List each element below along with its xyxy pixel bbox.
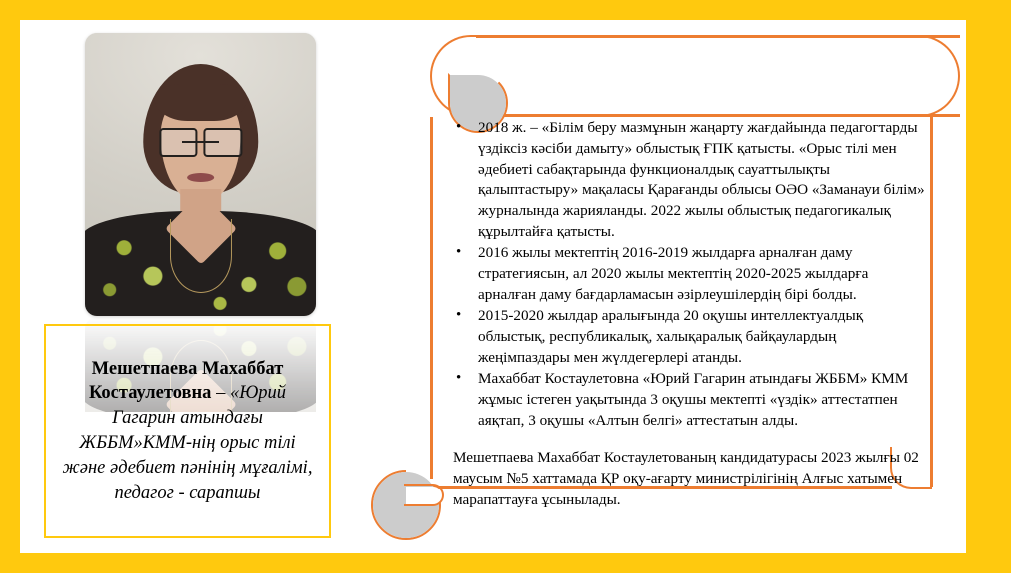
list-item: Махаббат Костаулетовна «Юрий Гагарин аты…: [447, 369, 927, 431]
photo-fringe: [154, 84, 246, 121]
photo-glasses-bridge: [182, 141, 219, 144]
list-item: 2018 ж. – «Білім беру мазмұнын жаңарту ж…: [447, 118, 927, 243]
list-item: 2016 жылы мектептің 2016-2019 жылдарға а…: [447, 243, 927, 305]
decor-left-stem: [430, 117, 433, 479]
content-area: 2018 ж. – «Білім беру мазмұнын жаңарту ж…: [447, 118, 927, 510]
decor-pill-bottom-line: [476, 114, 960, 117]
decor-c-disc-inner-hook: [404, 484, 444, 506]
frame-border-bottom: [0, 553, 1011, 573]
photo-necklace: [169, 219, 231, 294]
slide-canvas: Мешетпаева Махаббат Костаулетовна – «Юри…: [0, 0, 1011, 573]
caption-dash: –: [211, 383, 230, 403]
photo-lips: [187, 173, 215, 182]
decor-right-stem: [930, 117, 933, 487]
frame-border-left: [0, 0, 20, 573]
frame-border-right: [966, 0, 1011, 573]
list-item: 2015-2020 жылдар аралығында 20 оқушы инт…: [447, 306, 927, 368]
caption-text: Мешетпаева Махаббат Костаулетовна – «Юри…: [56, 357, 319, 506]
achievements-list: 2018 ж. – «Білім беру мазмұнын жаңарту ж…: [447, 118, 927, 432]
closing-paragraph: Мешетпаева Махаббат Костаулетованың канд…: [447, 448, 927, 510]
decor-pill-top-line: [476, 35, 960, 38]
portrait-photo: [85, 33, 316, 316]
caption-box: Мешетпаева Махаббат Костаулетовна – «Юри…: [44, 324, 331, 538]
decor-pill-right-cap: [918, 35, 960, 117]
frame-border-top: [0, 0, 1011, 20]
